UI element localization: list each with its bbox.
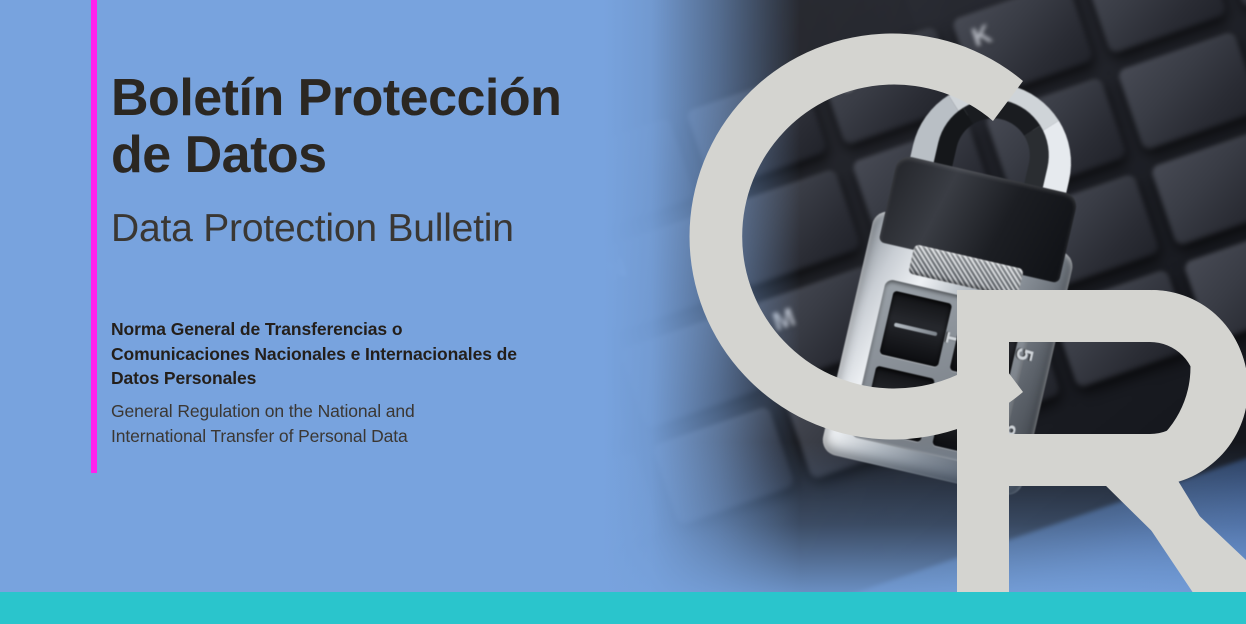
page-title-line-2: de Datos [111,126,327,184]
keycap-label: K [968,18,996,54]
dial-ridge [964,339,1008,353]
regulation-es-line-2: Comunicaciones Nacionales e Internaciona… [111,344,517,364]
dial-digit: 5 [1010,345,1039,364]
regulation-en-line-2: International Transfer of Personal Data [111,426,408,446]
banner-canvas: B J K N — M O [0,0,1246,624]
padlock-dial: 5 [949,307,1022,384]
regulation-title-spanish: Norma General de Transferencias o Comuni… [111,317,581,391]
padlock-dial: 7 [862,366,935,443]
regulation-es-line-3: Datos Personales [111,368,256,388]
dial-digit: 8 [993,420,1022,439]
regulation-title-english: General Regulation on the National and I… [111,399,541,449]
magenta-accent-bar [91,0,97,473]
regulation-en-line-1: General Regulation on the National and [111,401,415,421]
page-title-line-1: Boletín Protección [111,69,561,127]
editorial-copy-block: Boletín Protección de Datos Data Protect… [111,0,651,592]
dial-ridge [876,398,920,412]
page-subtitle: Data Protection Bulletin [111,207,514,252]
keyboard-key [1150,127,1246,247]
page-title: Boletín Protección de Datos [111,70,651,184]
dial-ridge [947,414,991,428]
hero-photograph: B J K N — M O [560,0,1246,592]
photo-bottom-fade [560,442,1246,592]
padlock-dial: 1 [879,290,952,367]
footer-accent-bar [0,592,1246,624]
dial-ridge [894,323,938,337]
regulation-es-line-1: Norma General de Transferencias o [111,319,402,339]
keyboard-key [1117,31,1246,151]
keycap-label: J [835,65,859,99]
